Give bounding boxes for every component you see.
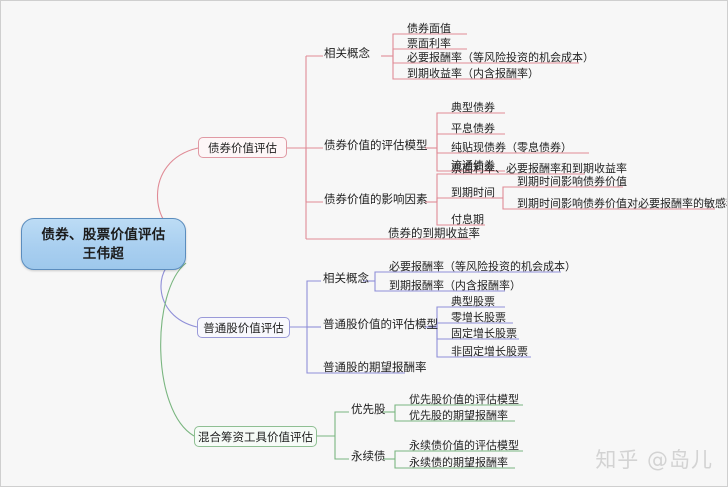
node-bond-ytm[interactable]: 债券的到期收益率 bbox=[386, 227, 482, 242]
node-maturity-time[interactable]: 到期时间 bbox=[449, 186, 497, 201]
root-node[interactable]: 债券、股票价值评估 王伟超 bbox=[21, 218, 186, 270]
leaf-typical-stock[interactable]: 典型股票 bbox=[449, 295, 497, 310]
mindmap-canvas: 债券、股票价值评估 王伟超 债券价值评估 相关概念 债券面值 票面利率 必要报酬… bbox=[0, 0, 728, 487]
leaf-perpetual-valuation-model[interactable]: 永续债价值的评估模型 bbox=[407, 439, 521, 454]
root-title-line1: 债券、股票价值评估 bbox=[41, 225, 165, 244]
leaf-constant-growth-stock[interactable]: 固定增长股票 bbox=[449, 327, 519, 342]
node-preferred-stock[interactable]: 优先股 bbox=[349, 403, 388, 418]
leaf-preferred-expected-return[interactable]: 优先股的期望报酬率 bbox=[407, 409, 510, 424]
node-bond-valuation-models[interactable]: 债券价值的评估模型 bbox=[322, 139, 430, 154]
leaf-bond-face-value[interactable]: 债券面值 bbox=[405, 22, 453, 37]
node-stock-expected-return[interactable]: 普通股的期望报酬率 bbox=[321, 361, 429, 376]
node-perpetual-bond[interactable]: 永续债 bbox=[349, 450, 388, 465]
node-bond-concepts[interactable]: 相关概念 bbox=[322, 47, 372, 62]
node-bond-value-factors[interactable]: 债券价值的影响因素 bbox=[322, 193, 430, 208]
root-title-line2: 王伟超 bbox=[83, 244, 124, 263]
leaf-coupon-period[interactable]: 付息期 bbox=[449, 213, 486, 228]
leaf-zero-growth-stock[interactable]: 零增长股票 bbox=[449, 311, 508, 326]
leaf-maturity-affects-value[interactable]: 到期时间影响债券价值 bbox=[515, 175, 629, 190]
leaf-preferred-valuation-model[interactable]: 优先股价值的评估模型 bbox=[407, 393, 521, 408]
branch-node-hybrid[interactable]: 混合筹资工具价值评估 bbox=[194, 426, 317, 447]
branch-node-bond[interactable]: 债券价值评估 bbox=[198, 137, 287, 158]
watermark: 知乎 @岛儿 bbox=[595, 444, 713, 474]
leaf-perpetual-expected-return[interactable]: 永续债的期望报酬率 bbox=[407, 456, 510, 471]
leaf-stock-expected-return-concept[interactable]: 到期报酬率（内含报酬率） bbox=[387, 279, 523, 294]
leaf-maturity-affects-sensitivity[interactable]: 到期时间影响债券价值对必要报酬率的敏感程度 bbox=[515, 197, 728, 212]
node-stock-valuation-models[interactable]: 普通股价值的评估模型 bbox=[321, 318, 440, 333]
leaf-stock-required-return[interactable]: 必要报酬率（等风险投资的机会成本） bbox=[387, 260, 578, 275]
leaf-level-coupon-bond[interactable]: 平息债券 bbox=[449, 122, 497, 137]
leaf-bond-coupon-rate[interactable]: 票面利率 bbox=[405, 37, 453, 52]
branch-node-common-stock[interactable]: 普通股价值评估 bbox=[197, 317, 290, 338]
leaf-bond-required-return[interactable]: 必要报酬率（等风险投资的机会成本） bbox=[405, 51, 596, 66]
node-stock-concepts[interactable]: 相关概念 bbox=[321, 272, 371, 287]
leaf-typical-bond[interactable]: 典型债券 bbox=[449, 101, 497, 116]
leaf-nonconstant-growth-stock[interactable]: 非固定增长股票 bbox=[449, 345, 530, 360]
leaf-bond-ytm[interactable]: 到期收益率（内含报酬率） bbox=[405, 67, 541, 82]
leaf-pure-discount-bond[interactable]: 纯贴现债券（零息债券） bbox=[449, 141, 574, 156]
